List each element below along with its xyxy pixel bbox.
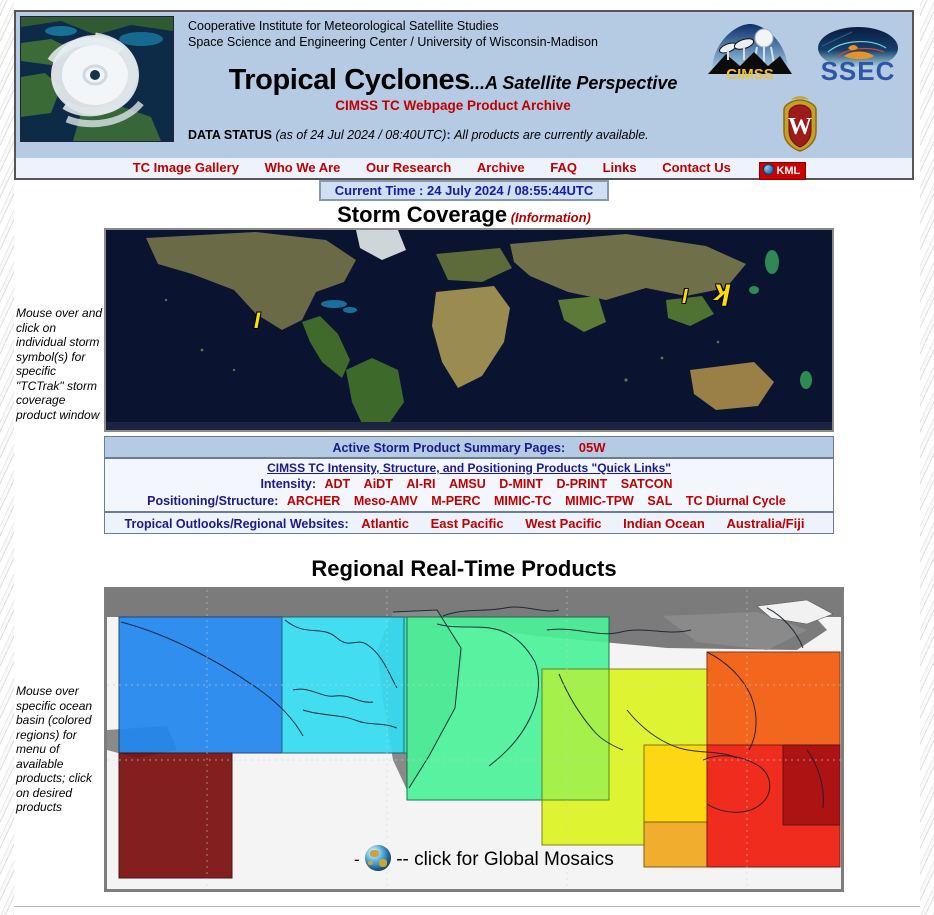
- nav-item-our-research[interactable]: Our Research: [366, 160, 451, 175]
- world-satellite-map: [106, 230, 832, 430]
- product-d-mint[interactable]: D-MINT: [499, 477, 543, 491]
- kml-label: KML: [776, 165, 800, 177]
- basin-north-indian: [542, 669, 609, 800]
- uw-crest-letter: W: [788, 114, 812, 140]
- ssec-logo-text: SSEC: [821, 56, 896, 84]
- nav-item-links[interactable]: Links: [603, 160, 637, 175]
- storm-symbol-05w[interactable]: ʞ: [714, 274, 731, 308]
- product-sal[interactable]: SAL: [647, 494, 672, 508]
- product-archer[interactable]: ARCHER: [287, 494, 340, 508]
- global-mosaics-link[interactable]: - -- click for Global Mosaics: [354, 845, 614, 871]
- product-d-print[interactable]: D-PRINT: [557, 477, 608, 491]
- product-ai-ri[interactable]: AI-RI: [406, 477, 435, 491]
- quick-links-title[interactable]: CIMSS TC Intensity, Structure, and Posit…: [105, 461, 833, 476]
- product-tc-diurnal-cycle[interactable]: TC Diurnal Cycle: [686, 494, 786, 508]
- hurricane-satellite-image[interactable]: [20, 16, 174, 142]
- global-mosaics-label: -- click for Global Mosaics: [396, 849, 614, 870]
- archive-subtitle[interactable]: CIMSS TC Webpage Product Archive: [188, 98, 718, 113]
- product-aidt[interactable]: AiDT: [364, 477, 393, 491]
- regional-products-title: Regional Real-Time Products: [311, 556, 616, 581]
- basin-south-pacific-east: [119, 753, 232, 878]
- page-content: Cooperative Institute for Meteorological…: [14, 0, 920, 915]
- outlook-east-pacific[interactable]: East Pacific: [431, 516, 504, 531]
- nav-links: TC Image Gallery Who We Are Our Research…: [122, 158, 807, 180]
- product-mimic-tpw[interactable]: MIMIC-TPW: [565, 494, 634, 508]
- storm-coverage-world-map[interactable]: I I ʞ: [104, 228, 834, 432]
- footer-divider: [14, 906, 920, 907]
- active-storm-label: Active Storm Product Summary Pages:: [332, 441, 565, 455]
- current-time-badge: Current Time : 24 July 2024 / 08:55:44UT…: [319, 180, 609, 201]
- current-time-row: Current Time : 24 July 2024 / 08:55:44UT…: [14, 180, 914, 201]
- positioning-products-row: Positioning/Structure: ARCHER Meso-AMV M…: [105, 493, 833, 510]
- outlooks-label: Tropical Outlooks/Regional Websites:: [125, 517, 349, 531]
- outlook-australia-fiji[interactable]: Australia/Fiji: [726, 516, 804, 531]
- outlook-west-pacific[interactable]: West Pacific: [525, 516, 601, 531]
- tropical-outlooks-row: Tropical Outlooks/Regional Websites: Atl…: [104, 512, 834, 534]
- ssec-logo[interactable]: SSEC: [814, 26, 902, 87]
- positioning-label: Positioning/Structure:: [147, 494, 278, 508]
- product-adt[interactable]: ADT: [324, 477, 350, 491]
- cimss-logo-text: CIMSS: [726, 66, 774, 83]
- data-status: DATA STATUS (as of 24 Jul 2024 / 08:40UT…: [188, 128, 718, 142]
- main-navigation: TC Image Gallery Who We Are Our Research…: [14, 158, 914, 180]
- page-title-main: Tropical Cyclones: [229, 64, 470, 96]
- storm-coverage-sidenote: Mouse over and click on individual storm…: [16, 306, 104, 422]
- regional-sidenote: Mouse over specific ocean basin (colored…: [16, 684, 104, 815]
- nav-item-archive[interactable]: Archive: [477, 160, 525, 175]
- data-status-time: (as of 24 Jul 2024 / 08:40UTC): [276, 128, 447, 142]
- product-amsu[interactable]: AMSU: [449, 477, 486, 491]
- page-edge-right: [920, 0, 934, 915]
- intensity-label: Intensity:: [260, 477, 316, 491]
- storm-coverage-heading: Storm Coverage (Information): [14, 202, 914, 228]
- site-header: Cooperative Institute for Meteorological…: [14, 10, 914, 160]
- active-storm-summary-row: Active Storm Product Summary Pages: 05W: [104, 436, 834, 458]
- globe-icon: [763, 164, 774, 175]
- page-title-sub: ...A Satellite Perspective: [470, 73, 677, 93]
- cimss-logo[interactable]: CIMSS: [706, 22, 794, 87]
- storm-coverage-information-link[interactable]: (Information): [511, 210, 591, 225]
- outlook-atlantic[interactable]: Atlantic: [361, 516, 409, 531]
- active-storm-05w[interactable]: 05W: [579, 440, 606, 455]
- logo-group: CIMSS SSEC: [706, 16, 906, 156]
- uw-madison-crest-icon[interactable]: W: [778, 96, 822, 157]
- data-status-message: All products are currently available.: [454, 128, 649, 142]
- earth-globe-icon: [365, 845, 391, 871]
- dash-prefix: -: [354, 850, 360, 869]
- storm-symbol-south-china-sea[interactable]: I: [682, 286, 688, 309]
- product-meso-amv[interactable]: Meso-AMV: [354, 494, 418, 508]
- page-edge-left: [0, 0, 14, 915]
- institution-line-1: Cooperative Institute for Meteorological…: [188, 18, 718, 34]
- product-mimic-tc[interactable]: MIMIC-TC: [494, 494, 552, 508]
- quick-links-panel: CIMSS TC Intensity, Structure, and Posit…: [104, 458, 834, 512]
- institution-line-2: Space Science and Engineering Center / U…: [188, 34, 718, 50]
- nav-item-who-we-are[interactable]: Who We Are: [265, 160, 341, 175]
- nav-item-tc-image-gallery[interactable]: TC Image Gallery: [133, 160, 239, 175]
- intensity-products-row: Intensity: ADT AiDT AI-RI AMSU D-MINT D-…: [105, 476, 833, 493]
- storm-symbol-east-pacific[interactable]: I: [254, 308, 260, 334]
- page-title: Tropical Cyclones...A Satellite Perspect…: [188, 64, 718, 97]
- nav-item-contact-us[interactable]: Contact Us: [662, 160, 731, 175]
- outlook-indian-ocean[interactable]: Indian Ocean: [623, 516, 705, 531]
- data-status-label: DATA STATUS: [188, 128, 272, 142]
- nav-item-faq[interactable]: FAQ: [550, 160, 577, 175]
- kml-download-button[interactable]: KML: [759, 162, 806, 180]
- header-text-block: Cooperative Institute for Meteorological…: [188, 18, 718, 142]
- storm-coverage-title: Storm Coverage: [337, 202, 507, 227]
- product-satcon[interactable]: SATCON: [621, 477, 673, 491]
- data-status-colon: :: [446, 128, 450, 142]
- product-m-perc[interactable]: M-PERC: [431, 494, 480, 508]
- regional-products-heading: Regional Real-Time Products: [14, 556, 914, 582]
